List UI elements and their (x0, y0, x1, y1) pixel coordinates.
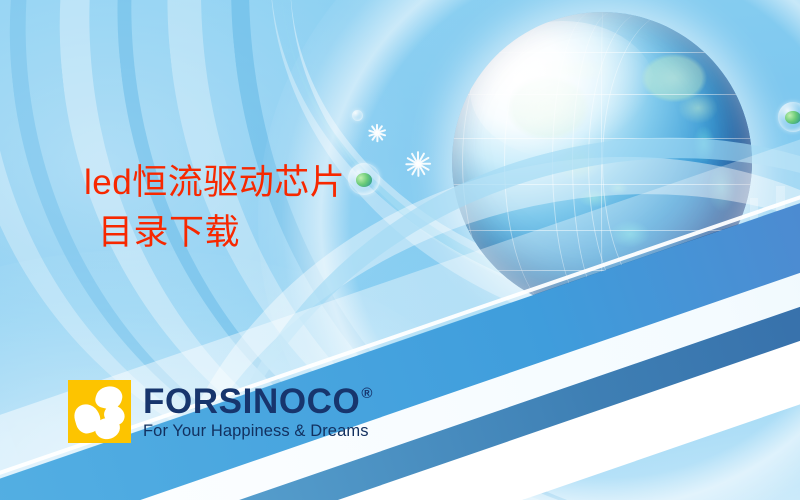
page-title: led恒流驱动芯片 目录下载 (84, 158, 345, 257)
logo-wordmark-row: FORSINOCO ® (143, 384, 373, 419)
logo-flower-icon (68, 380, 131, 443)
registered-trademark-icon: ® (361, 386, 373, 401)
logo-tagline: For Your Happiness & Dreams (143, 423, 373, 440)
bubble-tiny (352, 110, 363, 121)
headline-line-2: 目录下载 (84, 208, 345, 258)
bubble-with-globe (348, 163, 380, 195)
flower-sparkle-icon-small (367, 123, 387, 143)
bubble-with-globe-right (778, 102, 800, 132)
flower-sparkle-icon (404, 150, 432, 178)
logo-text-block: FORSINOCO ® For Your Happiness & Dreams (143, 384, 373, 440)
bubble-inner-globe (785, 111, 800, 124)
bubble-inner-globe (356, 173, 373, 187)
logo-wordmark: FORSINOCO (143, 384, 360, 419)
promo-banner: led恒流驱动芯片 目录下载 FORSINOCO ® For Your Happ… (0, 0, 800, 500)
company-logo[interactable]: FORSINOCO ® For Your Happiness & Dreams (68, 380, 373, 443)
headline-line-1: led恒流驱动芯片 (84, 163, 345, 202)
